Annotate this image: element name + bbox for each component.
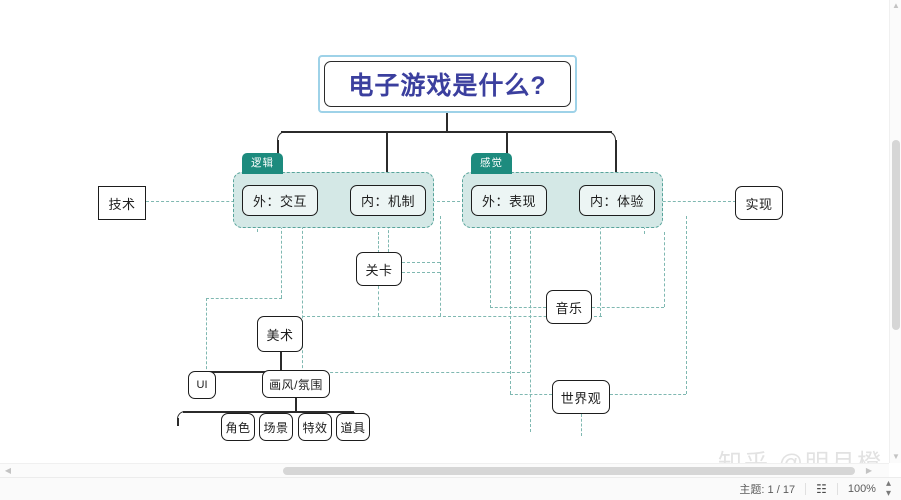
dashed-interaction-b bbox=[281, 216, 282, 298]
connector-child-drop-1 bbox=[177, 418, 179, 426]
status-divider-2 bbox=[837, 483, 838, 495]
vertical-scrollbar-thumb[interactable] bbox=[892, 140, 900, 330]
page-title: 电子游戏是什么? bbox=[348, 66, 546, 102]
scroll-left-icon[interactable]: ◀ bbox=[2, 465, 14, 477]
dashed-presentation-a bbox=[490, 216, 491, 308]
node-art[interactable]: 美术 bbox=[257, 316, 303, 352]
connector-bus bbox=[281, 131, 612, 133]
scroll-up-icon[interactable]: ▲ bbox=[890, 0, 901, 12]
slide-counter: 主题: 1 / 17 bbox=[739, 481, 795, 497]
book-icon[interactable]: ☷ bbox=[816, 482, 827, 496]
dashed-experience-a bbox=[600, 216, 601, 316]
scroll-right-icon[interactable]: ▶ bbox=[863, 465, 875, 477]
node-level[interactable]: 关卡 bbox=[356, 252, 402, 286]
node-implementation[interactable]: 实现 bbox=[735, 186, 783, 220]
dashed-level-top bbox=[378, 232, 379, 253]
zoom-level[interactable]: 100% bbox=[848, 483, 876, 495]
dashed-level-bottom bbox=[378, 286, 379, 316]
node-internal-experience[interactable]: 内：体验 bbox=[579, 185, 655, 216]
scroll-down-icon[interactable]: ▼ bbox=[890, 451, 901, 463]
dashed-worldview-right bbox=[610, 394, 686, 395]
presentation-window: 电子游戏是什么? 逻辑 外：交互 内：机制 感觉 外：表现 内：体验 技术 实现 bbox=[0, 0, 901, 500]
title-node-inner: 电子游戏是什么? bbox=[324, 61, 571, 107]
group-logic-tab: 逻辑 bbox=[242, 153, 283, 174]
dashed-style-feed bbox=[320, 372, 530, 373]
dashed-interaction-c bbox=[302, 216, 303, 388]
node-effects[interactable]: 特效 bbox=[298, 413, 332, 441]
horizontal-scrollbar-thumb[interactable] bbox=[283, 467, 855, 475]
group-feeling-tab: 感觉 bbox=[471, 153, 512, 174]
node-music[interactable]: 音乐 bbox=[546, 290, 592, 324]
dashed-level-right-1 bbox=[402, 262, 440, 263]
node-style[interactable]: 画风/氛围 bbox=[262, 370, 330, 398]
dashed-presentation-b bbox=[510, 216, 511, 394]
connector-title-stem bbox=[446, 113, 448, 131]
dashed-level-right-2 bbox=[402, 272, 440, 273]
dashed-music-left bbox=[490, 307, 546, 308]
dashed-worldview-down bbox=[581, 414, 582, 436]
node-props[interactable]: 道具 bbox=[336, 413, 370, 441]
dashed-presentation-c bbox=[530, 216, 531, 432]
horizontal-scrollbar[interactable]: ◀ ▶ bbox=[0, 463, 889, 477]
node-scene[interactable]: 场景 bbox=[259, 413, 293, 441]
node-character[interactable]: 角色 bbox=[221, 413, 255, 441]
dashed-music-right bbox=[592, 307, 664, 308]
dashed-worldview-left bbox=[510, 394, 552, 395]
zoom-stepper[interactable]: ▴▾ bbox=[886, 479, 891, 499]
dashed-ui-feed-v bbox=[206, 298, 207, 374]
connector-style-stem bbox=[295, 398, 297, 411]
node-ui[interactable]: UI bbox=[188, 371, 216, 399]
dashed-music-up bbox=[664, 232, 665, 307]
dashed-ui-feed-h bbox=[206, 298, 282, 299]
node-external-presentation[interactable]: 外：表现 bbox=[471, 185, 547, 216]
title-node[interactable]: 电子游戏是什么? bbox=[318, 55, 577, 113]
node-external-interaction[interactable]: 外：交互 bbox=[242, 185, 318, 216]
status-bar: 主题: 1 / 17 ☷ 100% ▴▾ bbox=[0, 477, 901, 500]
node-technology[interactable]: 技术 bbox=[98, 186, 146, 220]
node-internal-mechanism[interactable]: 内：机制 bbox=[350, 185, 426, 216]
slide-canvas[interactable]: 电子游戏是什么? 逻辑 外：交互 内：机制 感觉 外：表现 内：体验 技术 实现 bbox=[0, 0, 889, 463]
vertical-scrollbar[interactable]: ▲ ▼ bbox=[889, 0, 901, 463]
status-divider-1 bbox=[805, 483, 806, 495]
connector-art-stem bbox=[280, 352, 282, 372]
dashed-mechanism-b bbox=[440, 216, 441, 316]
node-worldview[interactable]: 世界观 bbox=[552, 380, 610, 414]
dashed-worldview-up bbox=[686, 216, 687, 394]
